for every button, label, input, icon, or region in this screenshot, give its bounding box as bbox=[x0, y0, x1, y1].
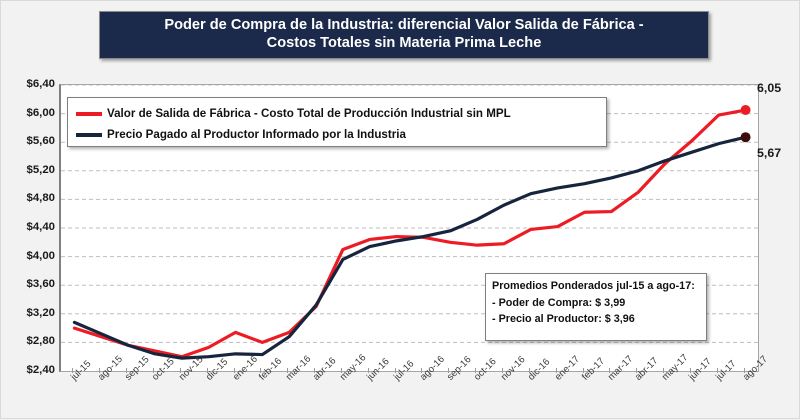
chart-legend: Valor de Salida de Fábrica - Costo Total… bbox=[67, 97, 607, 147]
annotation-line-title: Promedios Ponderados jul-15 a ago-17: bbox=[492, 278, 700, 295]
y-axis-tick-label: $3,60 bbox=[3, 278, 55, 290]
x-axis: jul-15ago-15sep-15oct-15nov-15dic-15ene-… bbox=[59, 373, 759, 420]
chart-title: Poder de Compra de la Industria: diferen… bbox=[99, 11, 709, 59]
chart-container: Poder de Compra de la Industria: diferen… bbox=[0, 0, 800, 419]
chart-title-line-1: Poder de Compra de la Industria: diferen… bbox=[164, 17, 643, 33]
legend-swatch-red bbox=[76, 112, 102, 116]
legend-label-precio-productor: Precio Pagado al Productor Informado por… bbox=[107, 128, 406, 141]
averages-annotation-box: Promedios Ponderados jul-15 a ago-17: - … bbox=[485, 273, 707, 341]
data-label-precio-productor: 5,67 bbox=[757, 146, 781, 160]
data-label-poder-de-compra: 6,05 bbox=[757, 81, 781, 95]
y-axis-tick-label: $4,80 bbox=[3, 192, 55, 204]
y-axis-tick-label: $4,00 bbox=[3, 250, 55, 262]
series-end-marker-precio-productor bbox=[741, 132, 751, 142]
y-axis-tick-label: $2,80 bbox=[3, 335, 55, 347]
annotation-line-poder-de-compra: - Poder de Compra: $ 3,99 bbox=[492, 295, 700, 312]
legend-label-poder-de-compra: Valor de Salida de Fábrica - Costo Total… bbox=[107, 107, 511, 120]
y-axis-tick-label: $3,20 bbox=[3, 307, 55, 319]
y-axis-tick-label: $4,40 bbox=[3, 221, 55, 233]
y-axis-tick-label: $2,40 bbox=[3, 364, 55, 376]
legend-item-precio-productor: Precio Pagado al Productor Informado por… bbox=[76, 124, 598, 145]
y-axis-tick-label: $5,60 bbox=[3, 135, 55, 147]
chart-title-line-2: Costos Totales sin Materia Prima Leche bbox=[267, 35, 542, 51]
annotation-line-precio-productor: - Precio al Productor: $ 3,96 bbox=[492, 311, 700, 328]
series-end-marker-poder-de-compra bbox=[741, 105, 751, 115]
y-axis-tick-label: $6,40 bbox=[3, 78, 55, 90]
y-axis-tick-label: $6,00 bbox=[3, 107, 55, 119]
legend-swatch-navy bbox=[76, 133, 102, 137]
y-axis-tick-label: $5,20 bbox=[3, 164, 55, 176]
legend-item-poder-de-compra: Valor de Salida de Fábrica - Costo Total… bbox=[76, 103, 598, 124]
y-axis: $6,40$6,00$5,60$5,20$4,80$4,40$4,00$3,60… bbox=[1, 1, 55, 420]
